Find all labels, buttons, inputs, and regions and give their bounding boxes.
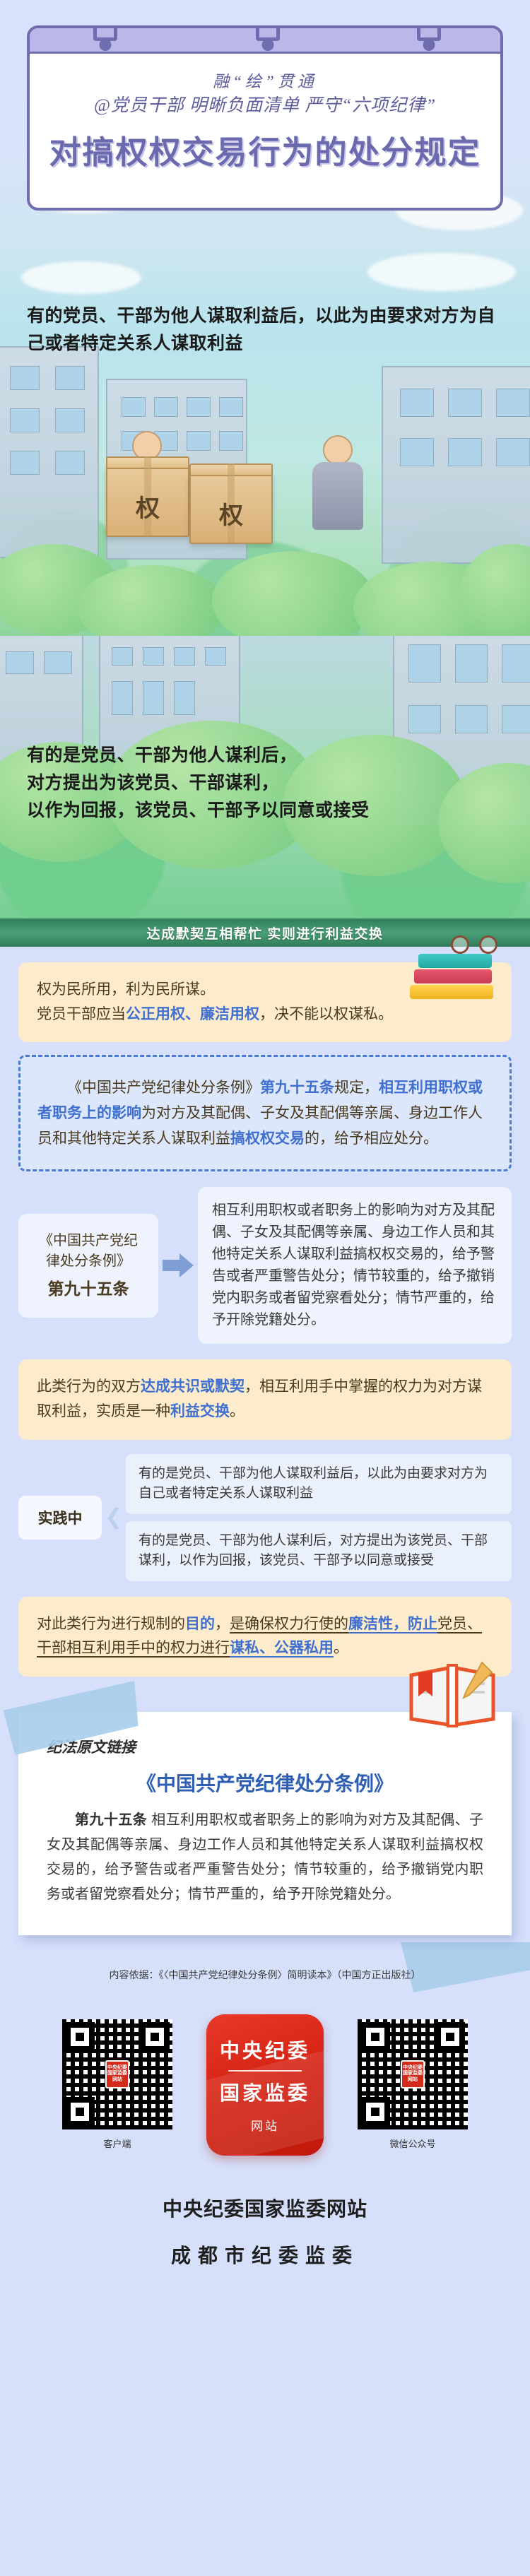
qr-code-row: 中央纪委国家监委 网站 客户端 中央纪委 国家监委 网站 中央纪委国家监委 网站… bbox=[0, 2014, 530, 2156]
cloud-shape bbox=[21, 261, 141, 294]
illustration-caption-two: 有的是党员、干部为他人谋利后， 对方提出为该党员、干部谋利， 以作为回报，该党员… bbox=[27, 742, 509, 824]
box-glyph-left: 权 bbox=[107, 489, 188, 524]
content-body: 权为民所用，利为民所谋。 党员干部应当公正用权、廉洁用权，决不能以权谋私。 《中… bbox=[0, 962, 530, 1942]
books-stack-icon bbox=[410, 931, 499, 999]
intro-highlight: 公正用权、廉洁用权 bbox=[126, 1006, 259, 1022]
reg-highlight-3: 搞权权交易 bbox=[230, 1130, 305, 1147]
nature-part-3: 。 bbox=[230, 1403, 245, 1419]
intro-line-2-post: ，决不能以权谋私。 bbox=[259, 1006, 393, 1022]
original-text-card: 纪法原文链接 《中国共产党纪律处分条例》 第九十五条 相互利用职权或者职务上的影… bbox=[18, 1712, 512, 1935]
person-figure-right bbox=[312, 435, 363, 530]
illustration-panel-one: 权 权 有的党员、干部为他人谋取利益后，以此为由要求对方为自己或者特定关系人谋取… bbox=[0, 240, 530, 636]
notebook-card: 融“绘”贯通 @党员干部 明晰负面清单 严守“六项纪律” 对搞权权交易行为的处分… bbox=[27, 25, 503, 211]
agency-logo-badge: 中央纪委 国家监委 网站 bbox=[206, 2014, 324, 2156]
open-book-icon bbox=[408, 1660, 496, 1729]
article-row: 《中国共产党纪 律处分条例》 第九十五条 相互利用职权或者职务上的影响为对方及其… bbox=[18, 1187, 512, 1344]
qr-caption-app: 客户端 bbox=[62, 2137, 172, 2150]
glasses-icon bbox=[451, 935, 497, 955]
qr-center-logo: 中央纪委国家监委 网站 bbox=[105, 2060, 129, 2088]
summary-banner-text: 达成默契互相帮忙 实则进行利益交换 bbox=[147, 923, 384, 943]
practice-item: 有的是党员、干部为他人谋取利益后，以此为由要求对方为自己或者特定关系人谋取利益 bbox=[126, 1454, 512, 1514]
purpose-highlight-2: 廉洁性，防止 bbox=[348, 1616, 437, 1632]
arrow-right-icon bbox=[158, 1253, 198, 1277]
nature-highlight-1: 达成共识或默契 bbox=[141, 1378, 245, 1395]
purpose-highlight-1: 目的 bbox=[185, 1616, 215, 1632]
logo-line-1: 中央纪委 bbox=[220, 2036, 310, 2064]
intro-line-2: 党员干部应当公正用权、廉洁用权，决不能以权谋私。 bbox=[37, 1003, 493, 1027]
article-label-line-1: 《中国共产党纪 bbox=[39, 1233, 138, 1248]
footer-org-primary: 中央纪委国家监委网站 bbox=[0, 2194, 530, 2222]
logo-line-3: 网站 bbox=[251, 2116, 279, 2134]
purpose-highlight-3: 谋私、公器私用 bbox=[230, 1640, 334, 1656]
original-text-section: 纪法原文链接 《中国共产党纪律处分条例》 第九十五条 相互利用职权或者职务上的影… bbox=[18, 1696, 512, 1935]
logo-line-2: 国家监委 bbox=[220, 2078, 310, 2106]
caption-two-line-2: 对方提出为该党员、干部谋利， bbox=[27, 769, 509, 797]
article-number: 第九十五条 bbox=[27, 1277, 150, 1301]
purpose-underline-pre: 是确保权力行使的 bbox=[230, 1616, 348, 1632]
poster-footer: 内容依据：《〈中国共产党纪律处分条例〉简明读本》（中国方正出版社） 中央纪委国家… bbox=[0, 1942, 530, 2297]
intro-block: 权为民所用，利为民所谋。 党员干部应当公正用权、廉洁用权，决不能以权谋私。 bbox=[18, 962, 512, 1042]
caption-two-line-3: 以作为回报，该党员、干部予以同意或接受 bbox=[27, 797, 509, 825]
page-title: 对搞权权交易行为的处分规定 bbox=[45, 126, 485, 172]
reg-highlight-1: 第九十五条 bbox=[260, 1080, 334, 1096]
chevron-left-icon: ❮ bbox=[102, 1507, 126, 1528]
poster-header: 融“绘”贯通 @党员干部 明晰负面清单 严守“六项纪律” 对搞权权交易行为的处分… bbox=[0, 0, 530, 240]
qr-center-logo: 中央纪委国家监委 网站 bbox=[401, 2060, 425, 2088]
logo-divider bbox=[228, 2070, 302, 2072]
article-label: 《中国共产党纪 律处分条例》 第九十五条 bbox=[18, 1214, 158, 1318]
practice-row: 实践中 ❮ 有的是党员、干部为他人谋取利益后，以此为由要求对方为自己或者特定关系… bbox=[18, 1454, 512, 1581]
original-body: 第九十五条 相互利用职权或者职务上的影响为对方及其配偶、子女及其配偶等亲属、身边… bbox=[47, 1808, 483, 1907]
intro-line-2-pre: 党员干部应当 bbox=[37, 1006, 126, 1022]
original-article-number: 第九十五条 bbox=[75, 1812, 147, 1828]
binder-ring-icon bbox=[256, 25, 280, 41]
bribe-box-left: 权 bbox=[106, 466, 189, 537]
cloud-shape bbox=[367, 253, 516, 291]
qr-code-image-wechat[interactable]: 中央纪委国家监委 网站 bbox=[358, 2019, 468, 2129]
original-kicker: 纪法原文链接 bbox=[47, 1736, 483, 1757]
article-text: 相互利用职权或者职务上的影响为对方及其配偶、子女及其配偶等亲属、身边工作人员和其… bbox=[198, 1187, 512, 1344]
qr-code-wechat[interactable]: 中央纪委国家监委 网站 微信公众号 bbox=[358, 2019, 468, 2150]
box-glyph-right: 权 bbox=[191, 496, 271, 531]
header-subtitle-2: @党员干部 明晰负面清单 严守“六项纪律” bbox=[45, 94, 485, 118]
reg-part-2: 规定， bbox=[334, 1080, 379, 1096]
qr-caption-wechat: 微信公众号 bbox=[358, 2137, 468, 2150]
reg-part-1: 《中国共产党纪律处分条例》 bbox=[67, 1080, 260, 1096]
purpose-part-2: ， bbox=[215, 1616, 230, 1632]
notebook-content: 融“绘”贯通 @党员干部 明晰负面清单 严守“六项纪律” 对搞权权交易行为的处分… bbox=[30, 54, 500, 208]
practice-item: 有的是党员、干部为他人谋利后，对方提出为该党员、干部谋利，以作为回报，该党员、干… bbox=[126, 1521, 512, 1581]
original-title: 《中国共产党纪律处分条例》 bbox=[47, 1768, 483, 1797]
practice-label: 实践中 bbox=[18, 1496, 102, 1540]
binder-ring-icon bbox=[417, 25, 441, 41]
caption-two-line-1: 有的是党员、干部为他人谋利后， bbox=[27, 742, 509, 769]
purpose-part-3: 。 bbox=[334, 1640, 348, 1656]
article-label-line-2: 律处分条例》 bbox=[46, 1253, 131, 1269]
qr-code-image-app[interactable]: 中央纪委国家监委 网站 bbox=[62, 2019, 172, 2129]
bush-shape bbox=[212, 551, 375, 636]
footer-org-secondary: 成都市纪委监委 bbox=[0, 2240, 530, 2269]
illustration-caption-one: 有的党员、干部为他人谋取利益后，以此为由要求对方为自己或者特定关系人谋取利益 bbox=[27, 302, 509, 358]
binder-ring-icon bbox=[93, 25, 117, 41]
header-subtitle-1: 融“绘”贯通 bbox=[45, 71, 485, 93]
bribe-box-right: 权 bbox=[189, 473, 273, 544]
reg-part-4: 的，给予相应处分。 bbox=[305, 1130, 438, 1147]
building-shape bbox=[382, 366, 530, 564]
nature-block: 此类行为的双方达成共识或默契，相互利用手中掌握的权力为对方谋取利益，实质是一种利… bbox=[18, 1359, 512, 1439]
regulation-quote-box: 《中国共产党纪律处分条例》第九十五条规定，相互利用职权或者职务上的影响为对方及其… bbox=[18, 1055, 512, 1171]
illustration-panel-two: 有的是党员、干部为他人谋利后， 对方提出为该党员、干部谋利， 以作为回报，该党员… bbox=[0, 636, 530, 918]
purpose-part-1: 对此类行为进行规制的 bbox=[37, 1616, 185, 1632]
nature-highlight-2: 利益交换 bbox=[170, 1403, 230, 1419]
qr-code-app[interactable]: 中央纪委国家监委 网站 客户端 bbox=[62, 2019, 172, 2150]
building-shape bbox=[0, 346, 99, 558]
source-attribution: 内容依据：《〈中国共产党纪律处分条例〉简明读本》（中国方正出版社） bbox=[0, 1968, 530, 1982]
nature-part-1: 此类行为的双方 bbox=[37, 1378, 141, 1395]
practice-items: 有的是党员、干部为他人谋取利益后，以此为由要求对方为自己或者特定关系人谋取利益 … bbox=[126, 1454, 512, 1581]
